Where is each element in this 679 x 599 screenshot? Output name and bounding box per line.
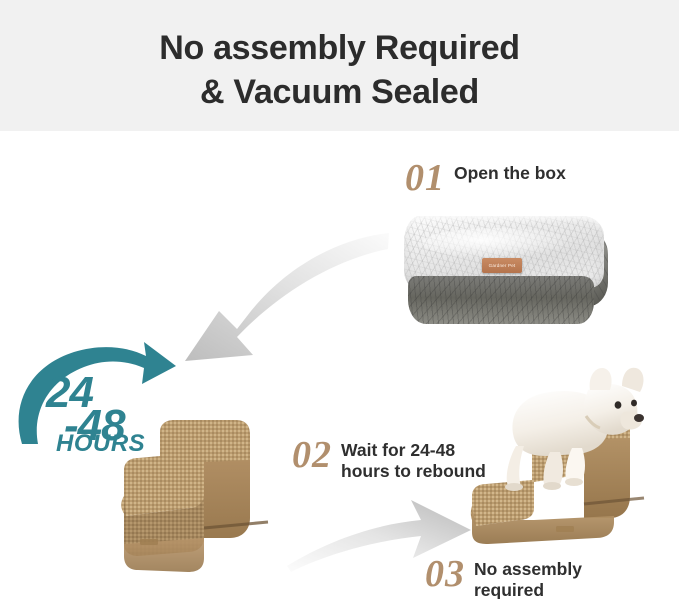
step-number-01: 01	[405, 160, 445, 196]
french-bulldog-illustration	[490, 360, 650, 505]
package-brand-label: Gardner Pet	[482, 258, 522, 273]
product-infographic: No assembly Required & Vacuum Sealed 01 …	[0, 0, 679, 599]
step-label-02: 02 Wait for 24-48 hours to rebound	[292, 437, 486, 482]
step-text-01: Open the box	[454, 160, 566, 184]
page-title: No assembly Required & Vacuum Sealed	[0, 26, 679, 114]
step-text-03: No assembly required	[474, 556, 582, 599]
step-number-02: 02	[292, 437, 332, 473]
package-front-face	[408, 276, 594, 324]
vacuum-sealed-package-illustration: Gardner Pet	[396, 208, 612, 338]
arrow-step1-to-step2-icon	[175, 225, 390, 365]
step-number-03: 03	[425, 556, 465, 592]
step-text-02: Wait for 24-48 hours to rebound	[341, 437, 486, 482]
step-label-03: 03 No assembly required	[425, 556, 582, 599]
package-sheen	[422, 228, 572, 258]
step-label-01: 01 Open the box	[405, 160, 566, 196]
package-brand-label-text: Gardner Pet	[489, 263, 516, 268]
